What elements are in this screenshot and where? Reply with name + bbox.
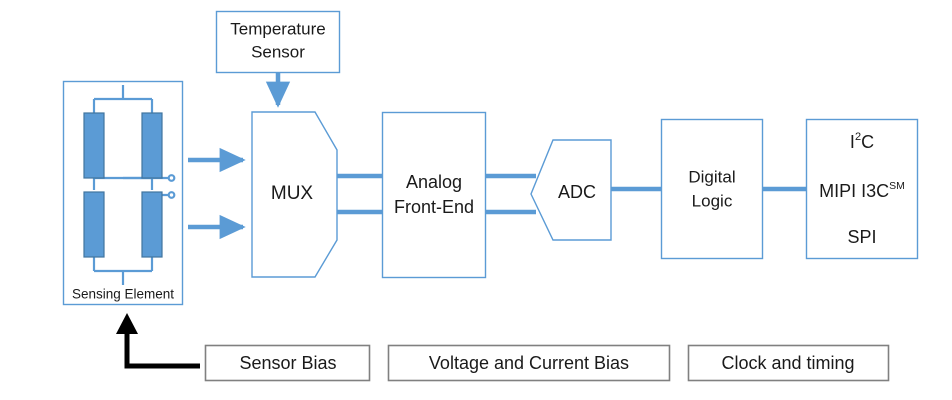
support-block-sensor-bias[interactable]: Sensor Bias: [206, 346, 370, 381]
digital-logic-label-line1: Digital: [688, 167, 735, 186]
interface-label-spi: SPI: [847, 227, 876, 247]
clock-and-timing-label: Clock and timing: [721, 353, 854, 373]
temperature-sensor-label-line1: Temperature: [230, 19, 325, 38]
resistor-top-left: [84, 113, 104, 178]
output-tap-dot-lower: [169, 192, 175, 198]
voltage-current-bias-label: Voltage and Current Bias: [429, 353, 629, 373]
sensor-bias-label: Sensor Bias: [239, 353, 336, 373]
block-diagram: Sensing Element Temperature Sensor MUX A…: [0, 0, 952, 400]
block-temperature-sensor[interactable]: Temperature Sensor: [217, 12, 340, 73]
block-interface[interactable]: I2C MIPI I3CSM SPI: [807, 120, 918, 259]
digital-logic-label-line2: Logic: [692, 191, 733, 210]
analog-front-end-label-line1: Analog: [406, 172, 462, 192]
adc-label: ADC: [558, 182, 596, 202]
support-block-voltage-current-bias[interactable]: Voltage and Current Bias: [389, 346, 670, 381]
resistor-bottom-left: [84, 192, 104, 257]
support-block-clock-and-timing[interactable]: Clock and timing: [689, 346, 889, 381]
output-tap-dot-upper: [169, 175, 175, 181]
sensing-element-label: Sensing Element: [72, 287, 174, 302]
interface-label-i2c: I2C: [850, 131, 874, 152]
block-digital-logic[interactable]: Digital Logic: [662, 120, 763, 259]
resistor-top-right: [142, 113, 162, 178]
temperature-sensor-label-line2: Sensor: [251, 42, 305, 61]
diagram-canvas: Sensing Element Temperature Sensor MUX A…: [0, 0, 952, 400]
block-sensing-element[interactable]: Sensing Element: [64, 82, 183, 305]
block-analog-front-end[interactable]: Analog Front-End: [383, 113, 486, 278]
block-mux[interactable]: MUX: [252, 112, 337, 277]
block-adc[interactable]: ADC: [531, 140, 611, 240]
connector-sensor-bias-to-sensing-element: [127, 322, 200, 366]
mux-label: MUX: [271, 183, 314, 204]
resistor-bottom-right: [142, 192, 162, 257]
analog-front-end-label-line2: Front-End: [394, 197, 474, 217]
